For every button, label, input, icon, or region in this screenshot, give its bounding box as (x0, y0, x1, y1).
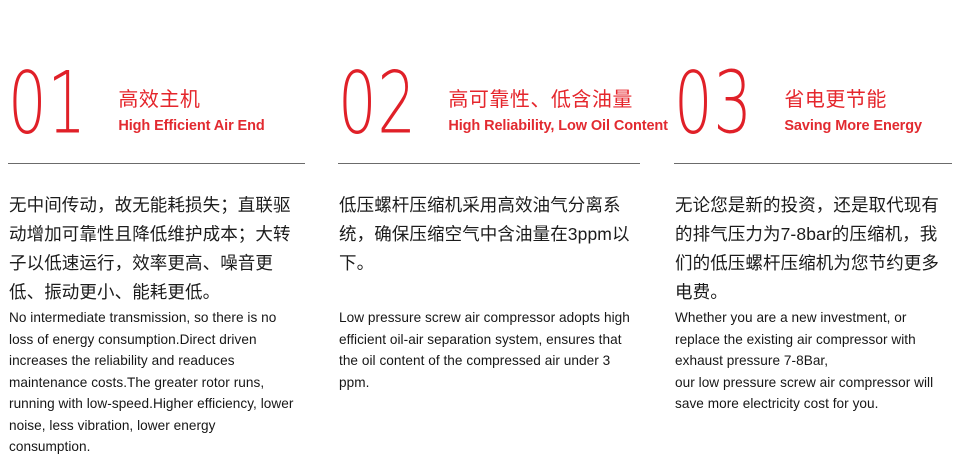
feature-divider-03 (674, 163, 952, 164)
feature-divider-02 (338, 163, 640, 164)
feature-column-03: 03 省电更节能 Saving More Energy 无论您是新的投资，还是取… (657, 0, 960, 456)
feature-column-02: 02 高可靠性、低含油量 High Reliability, Low Oil C… (323, 0, 657, 456)
feature-body-en-02: Low pressure screw air compressor adopts… (323, 307, 657, 393)
feature-column-01: 01 高效主机 High Efficient Air End 无中间传动，故无能… (0, 0, 323, 456)
feature-header-03: 03 省电更节能 Saving More Energy (657, 62, 960, 143)
feature-body-cn-01: 无中间传动，故无能耗损失；直联驱动增加可靠性且降低维护成本；大转子以低速运行，效… (0, 191, 323, 307)
feature-columns: 01 高效主机 High Efficient Air End 无中间传动，故无能… (0, 0, 960, 456)
feature-title-en-02: High Reliability, Low Oil Content (448, 117, 668, 136)
feature-title-en-01: High Efficient Air End (118, 117, 264, 136)
feature-number-01: 01 (8, 64, 87, 146)
feature-header-01: 01 高效主机 High Efficient Air End (0, 62, 323, 143)
feature-body-en-01: No intermediate transmission, so there i… (0, 307, 323, 458)
feature-body-en-03: Whether you are a new investment, or rep… (657, 307, 960, 415)
feature-titles-03: 省电更节能 Saving More Energy (784, 88, 922, 135)
feature-title-en-03: Saving More Energy (784, 117, 922, 136)
feature-body-cn-03: 无论您是新的投资，还是取代现有的排气压力为7-8bar的压缩机，我们的低压螺杆压… (657, 191, 960, 307)
feature-divider-01 (8, 163, 305, 164)
feature-header-02: 02 高可靠性、低含油量 High Reliability, Low Oil C… (323, 62, 657, 143)
feature-title-cn-02: 高可靠性、低含油量 (448, 88, 668, 114)
feature-title-cn-03: 省电更节能 (784, 88, 922, 114)
feature-titles-01: 高效主机 High Efficient Air End (118, 88, 264, 135)
feature-number-03: 03 (674, 64, 753, 146)
feature-number-02: 02 (338, 64, 417, 146)
feature-titles-02: 高可靠性、低含油量 High Reliability, Low Oil Cont… (448, 88, 668, 135)
feature-body-cn-02: 低压螺杆压缩机采用高效油气分离系统，确保压缩空气中含油量在3ppm以下。 (323, 191, 657, 278)
feature-highlights-page: 01 高效主机 High Efficient Air End 无中间传动，故无能… (0, 0, 960, 456)
feature-title-cn-01: 高效主机 (118, 88, 264, 114)
